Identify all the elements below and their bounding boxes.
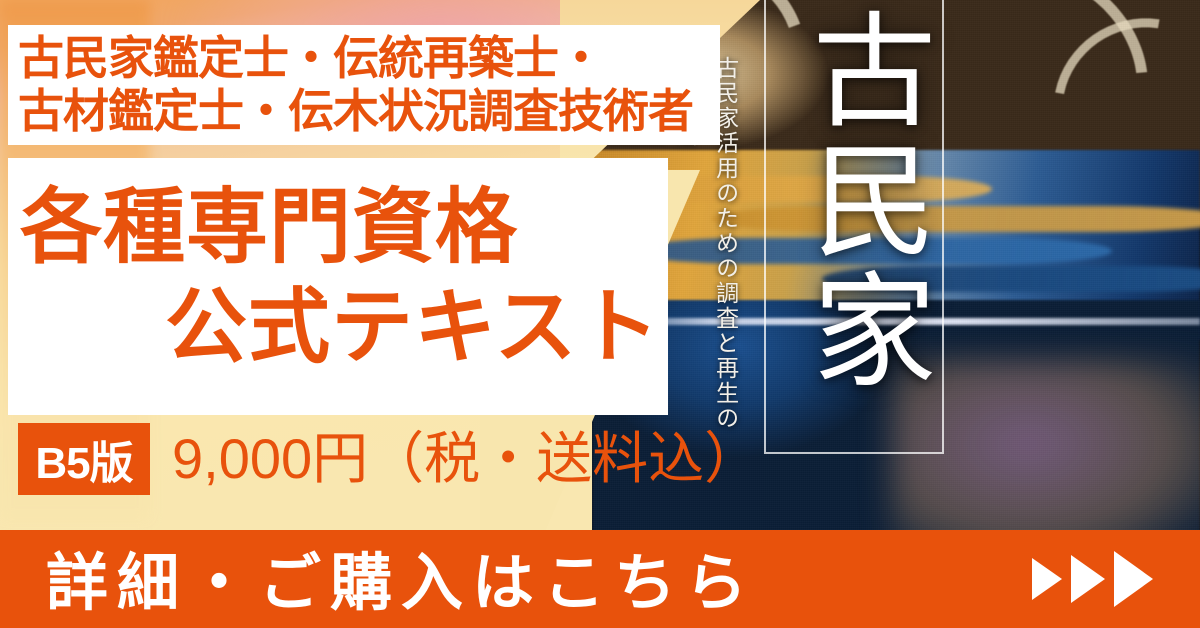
cta-arrows bbox=[1032, 551, 1153, 607]
format-badge: B5版 bbox=[18, 423, 150, 495]
headline-line-2: 古材鑑定士・伝木状況調査技術者 bbox=[18, 84, 693, 139]
headline-line-1: 古民家鑑定士・伝統再築士・ bbox=[18, 31, 603, 86]
cta-bar[interactable]: 詳細・ご購入はこちら bbox=[0, 530, 1200, 628]
chevron-right-icon bbox=[1071, 555, 1105, 603]
cta-label: 詳細・ご購入はこちら bbox=[46, 532, 756, 622]
price-text: 9,000円（税・送料込） bbox=[172, 428, 760, 490]
main-title-line-1: 各種専門資格 bbox=[20, 185, 518, 271]
book-cover-title: 古民家 bbox=[788, 6, 934, 396]
chevron-right-icon bbox=[1114, 551, 1153, 607]
chevron-right-icon bbox=[1032, 558, 1062, 600]
main-title-line-2: 公式テキスト bbox=[165, 285, 661, 371]
promo-banner: 古民家 古民家活用のための調査と再生の 伝統構法 古民家鑑定士・伝統再築士・ 古… bbox=[0, 0, 1200, 628]
